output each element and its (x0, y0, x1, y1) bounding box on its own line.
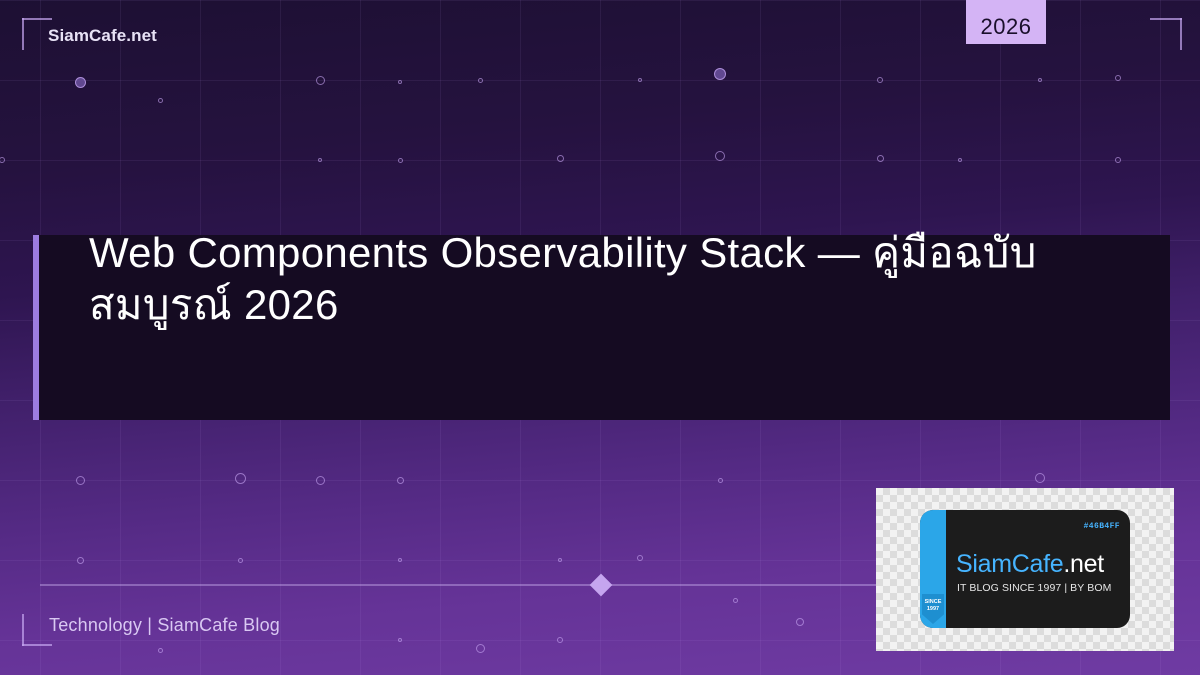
background-dot (733, 598, 738, 603)
logo-wordmark-secondary: .net (1063, 550, 1104, 578)
logo-tagline: IT BLOG SINCE 1997 | BY BOM (957, 582, 1111, 594)
background-dot (478, 78, 483, 83)
background-dot (1035, 473, 1045, 483)
logo-body: #46B4FF SiamCafe.net IT BLOG SINCE 1997 … (946, 510, 1130, 628)
background-dot (397, 477, 404, 484)
brand-name: SiamCafe.net (48, 26, 157, 46)
background-dot (877, 77, 883, 83)
background-dot (1038, 78, 1042, 82)
bracket-line-horizontal (22, 644, 52, 646)
background-dot (75, 77, 86, 88)
page-title: Web Components Observability Stack — คู่… (89, 227, 1149, 331)
logo-hex-label: #46B4FF (1084, 522, 1120, 531)
background-dot (1115, 75, 1121, 81)
corner-bracket-bottom-left (22, 612, 52, 646)
background-dot (796, 618, 804, 626)
footer-category: Technology | SiamCafe Blog (49, 615, 280, 636)
background-dot (638, 78, 642, 82)
background-dot (398, 80, 402, 84)
background-dot (476, 644, 485, 653)
shield-line-2: 1997 (922, 606, 944, 613)
background-dot (557, 155, 564, 162)
background-dot (76, 476, 85, 485)
divider-diamond-marker (590, 574, 613, 597)
background-dot (714, 68, 726, 80)
background-dot (398, 558, 402, 562)
background-dot (318, 158, 322, 162)
background-dot (316, 76, 325, 85)
year-badge: 2026 (966, 0, 1046, 44)
logo-card: SINCE 1997 #46B4FF SiamCafe.net IT BLOG … (876, 488, 1174, 651)
background-dot (235, 473, 246, 484)
logo-blue-strip: SINCE 1997 (920, 510, 946, 628)
background-dot (718, 478, 723, 483)
title-panel: Web Components Observability Stack — คู่… (33, 235, 1170, 420)
background-dot (637, 555, 643, 561)
bracket-line-horizontal (22, 18, 52, 20)
corner-bracket-top-right (1150, 18, 1182, 50)
background-dot (877, 155, 884, 162)
background-dot (557, 637, 563, 643)
background-dot (0, 157, 5, 163)
background-dot (238, 558, 243, 563)
background-dot (398, 158, 403, 163)
title-accent-bar (33, 235, 39, 420)
background-dot (398, 638, 402, 642)
background-dot (316, 476, 325, 485)
background-dot (158, 648, 163, 653)
bracket-line-horizontal (1150, 18, 1182, 20)
bracket-line-vertical (1180, 18, 1182, 50)
bracket-line-vertical (22, 614, 24, 646)
logo-wordmark: SiamCafe.net (956, 550, 1104, 579)
background-dot (158, 98, 163, 103)
background-dot (1115, 157, 1121, 163)
bracket-line-vertical (22, 18, 24, 50)
background-dot (77, 557, 84, 564)
shield-line-1: SINCE (922, 599, 944, 606)
since-shield-icon: SINCE 1997 (922, 594, 944, 624)
logo-wordmark-primary: SiamCafe (956, 550, 1063, 578)
logo-inner-card: SINCE 1997 #46B4FF SiamCafe.net IT BLOG … (920, 510, 1130, 628)
poster-canvas: SiamCafe.net 2026 Web Components Observa… (0, 0, 1200, 675)
background-dot (558, 558, 562, 562)
background-dot (958, 158, 962, 162)
background-dot (715, 151, 725, 161)
